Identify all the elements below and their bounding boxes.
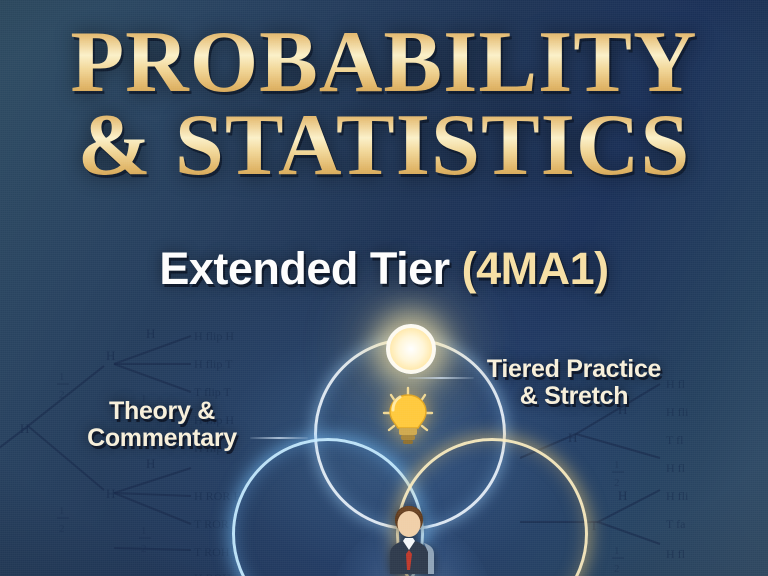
svg-text:1: 1	[614, 459, 620, 471]
subtitle-spec-code: (4MA1)	[462, 243, 609, 294]
svg-text:H: H	[106, 348, 115, 363]
svg-text:T: T	[590, 518, 598, 533]
svg-text:H fli: H fli	[666, 489, 689, 503]
glow-node-icon	[386, 324, 436, 374]
partial-icon-left	[108, 560, 180, 576]
svg-text:H: H	[146, 326, 155, 341]
businessman-avatar-icon	[376, 500, 442, 574]
callout-practice-line-2: & Stretch	[456, 383, 692, 410]
svg-text:H: H	[20, 421, 29, 436]
svg-text:H: H	[618, 488, 627, 503]
svg-text:H fl: H fl	[666, 461, 686, 475]
callout-theory-commentary: Theory & Commentary	[62, 398, 262, 451]
svg-text:1: 1	[59, 371, 65, 383]
svg-text:2: 2	[614, 477, 620, 489]
title-line-2: & STATISTICS	[0, 105, 768, 188]
svg-text:H ROH: H ROH	[194, 571, 231, 576]
page-title: PROBABILITY & STATISTICS	[0, 22, 768, 187]
svg-text:H: H	[106, 486, 115, 501]
partial-icon-right	[524, 566, 582, 576]
callout-tiered-practice: Tiered Practice & Stretch	[456, 356, 692, 409]
svg-text:1: 1	[141, 525, 147, 537]
subtitle-tier-label: Extended Tier	[159, 243, 461, 294]
svg-text:H flip T: H flip T	[194, 357, 233, 371]
svg-text:1: 1	[59, 505, 65, 517]
svg-text:H flip H: H flip H	[194, 329, 234, 343]
svg-text:2: 2	[141, 543, 147, 555]
svg-text:T fl: T fl	[666, 433, 684, 447]
callout-theory-line-1: Theory &	[62, 398, 262, 425]
svg-text:1: 1	[614, 545, 620, 557]
svg-text:T fa: T fa	[666, 517, 686, 531]
svg-text:H fl: H fl	[666, 547, 686, 561]
svg-text:H: H	[146, 456, 155, 471]
title-line-1: PROBABILITY	[0, 22, 768, 105]
callout-theory-line-2: Commentary	[62, 425, 262, 452]
callout-practice-line-1: Tiered Practice	[456, 356, 692, 383]
page-subtitle: Extended Tier (4MA1)	[0, 243, 768, 295]
svg-text:2: 2	[614, 563, 620, 575]
svg-text:2: 2	[59, 523, 65, 535]
poster-canvas: H H H H H 1 2 1 2 1 2 1 2 H flip H H fli…	[0, 0, 768, 576]
svg-text:T ROH: T ROH	[194, 545, 230, 559]
lightbulb-icon	[382, 386, 434, 448]
